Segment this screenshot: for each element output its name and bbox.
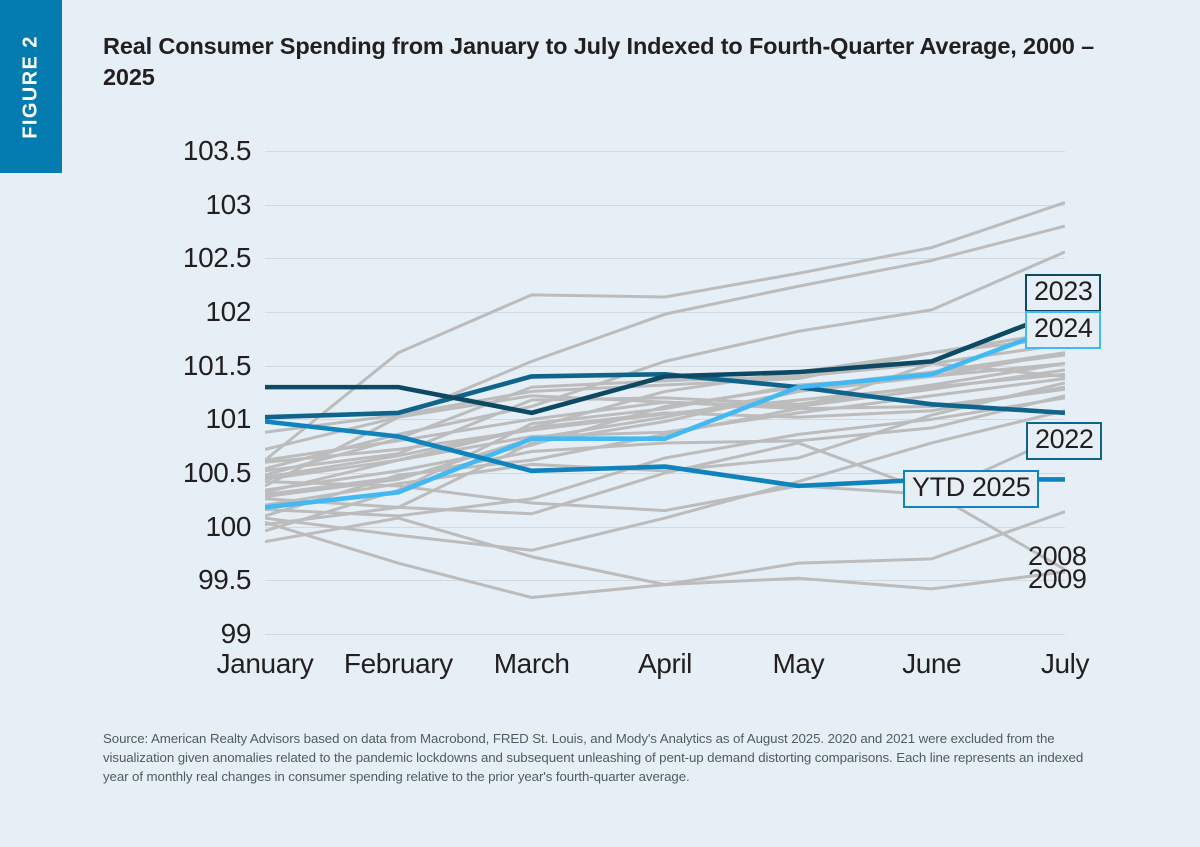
- series-line-low-grey-e: [265, 512, 1065, 598]
- figure-number-tab: FIGURE 2: [0, 0, 62, 173]
- x-axis-tick-label: July: [1041, 648, 1089, 680]
- y-axis-tick-label: 100: [205, 511, 251, 543]
- series-callout-2009: 2009: [1028, 565, 1086, 594]
- figure-number-label: FIGURE 2: [20, 35, 43, 138]
- line-chart-canvas: [265, 151, 1065, 634]
- x-axis-tick-label: January: [217, 648, 314, 680]
- y-axis-tick-label: 101: [205, 403, 251, 435]
- gridline: [265, 634, 1065, 635]
- source-note: Source: American Realty Advisors based o…: [103, 730, 1098, 787]
- x-axis-tick-label: June: [902, 648, 961, 680]
- figure-page: FIGURE 2 Real Consumer Spending from Jan…: [0, 0, 1200, 847]
- x-axis-tick-label: May: [772, 648, 824, 680]
- series-callout-2024: 2024: [1025, 311, 1101, 349]
- x-axis: JanuaryFebruaryMarchAprilMayJuneJuly: [265, 648, 1065, 692]
- series-callout-2023: 2023: [1025, 274, 1101, 312]
- series-callout-2022: 2022: [1026, 422, 1102, 460]
- y-axis-tick-label: 101.5: [183, 350, 251, 382]
- y-axis-tick-label: 99.5: [198, 564, 251, 596]
- x-axis-tick-label: March: [494, 648, 570, 680]
- y-axis-tick-label: 100.5: [183, 457, 251, 489]
- y-axis-tick-label: 99: [221, 618, 251, 650]
- x-axis-tick-label: April: [638, 648, 692, 680]
- x-axis-tick-label: February: [344, 648, 453, 680]
- y-axis-tick-label: 102.5: [183, 242, 251, 274]
- plot-area: [265, 151, 1065, 634]
- chart-title: Real Consumer Spending from January to J…: [103, 31, 1103, 94]
- y-axis-tick-label: 103.5: [183, 135, 251, 167]
- series-callout-ytd-2025: YTD 2025: [903, 470, 1039, 508]
- y-axis-tick-label: 103: [205, 189, 251, 221]
- y-axis-tick-label: 102: [205, 296, 251, 328]
- y-axis: 103.5103102.5102101.5101100.510099.599: [103, 151, 251, 634]
